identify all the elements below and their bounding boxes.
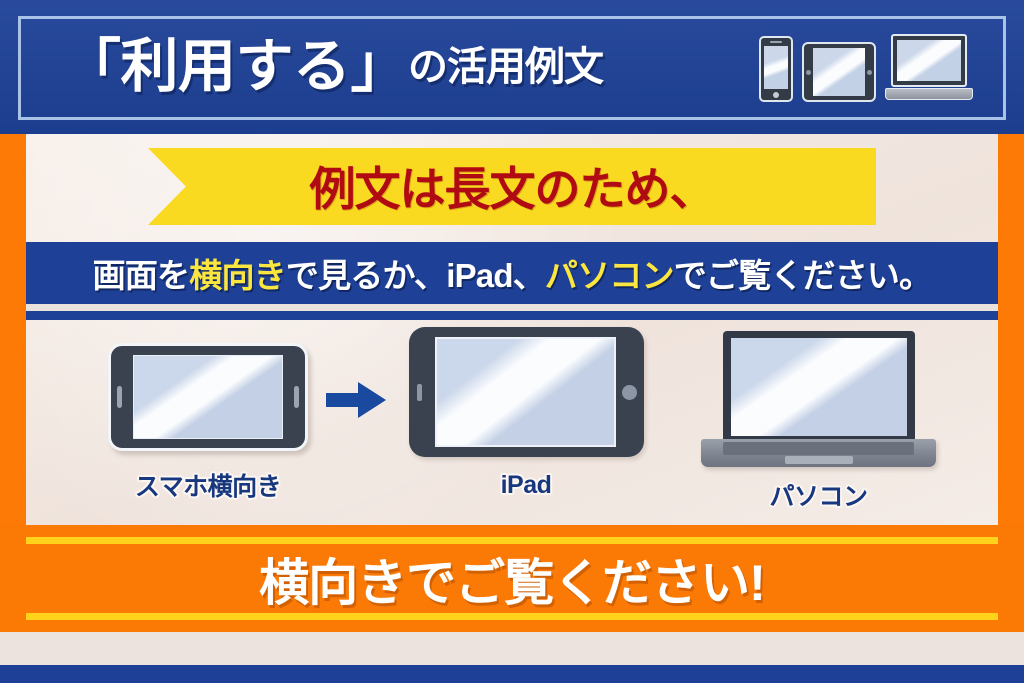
right-orange-rail [998, 134, 1024, 525]
laptop-illustration [701, 331, 936, 467]
yellow-ribbon-banner: 例文は長文のため、 [148, 148, 876, 225]
ribbon-text: 例文は長文のため、 [310, 153, 715, 219]
footer-cream-band [0, 632, 1024, 665]
ipad-illustration [409, 327, 644, 457]
page-title: 「利用する」の活用例文 [63, 38, 603, 96]
laptop-keyboard [723, 442, 914, 455]
cta-text: 横向きでご覧ください! [259, 543, 765, 615]
page-title-quoted: 「利用する」 [63, 34, 408, 99]
smartphone-label: スマホ横向き [98, 467, 318, 503]
tablet-camera-icon [806, 70, 811, 75]
phone-side-button-right-icon [294, 386, 299, 408]
smartphone-portrait-icon [759, 36, 793, 102]
cta-banner: 横向きでご覧ください! [0, 525, 1024, 632]
page-title-rest: の活用例文 [408, 45, 603, 89]
screen-glare [133, 355, 283, 439]
instruction-bar: 画面を横向きで見るか、iPad、パソコンでご覧ください。 [26, 242, 998, 304]
tablet-label: iPad [396, 471, 656, 500]
left-orange-rail [0, 134, 26, 525]
tablet-landscape-icon [802, 42, 876, 102]
laptop-label: パソコン [686, 477, 951, 513]
showcase-item-smartphone: スマホ横向き [98, 343, 318, 503]
laptop-base [885, 88, 973, 100]
screen-glare [435, 337, 616, 447]
showcase-item-tablet: iPad [396, 327, 656, 500]
screen-glare [731, 338, 907, 436]
instruction-part-2: で見るか、iPad、 [286, 257, 545, 294]
instruction-part-1: 画面を [93, 257, 190, 294]
cta-stripe-bottom [26, 613, 998, 620]
poster-canvas: 「利用する」の活用例文 [0, 0, 1024, 683]
laptop-base [701, 439, 936, 467]
laptop-lid [723, 331, 915, 443]
laptop-trackpad [785, 456, 853, 464]
tablet-home-button-icon [867, 70, 872, 75]
screen-glare [813, 48, 865, 96]
home-button-icon [773, 92, 779, 98]
laptop-lid [891, 34, 967, 87]
footer-blue-band [0, 665, 1024, 683]
tablet-home-button-icon [622, 385, 637, 400]
screen-glare [897, 40, 961, 81]
instruction-bar-gap [26, 304, 998, 311]
instruction-highlight-1: 横向き [189, 257, 286, 294]
instruction-bar-underline [26, 311, 998, 320]
showcase-item-laptop: パソコン [686, 331, 951, 513]
header-band: 「利用する」の活用例文 [0, 0, 1024, 134]
screen-glare [764, 46, 788, 89]
instruction-highlight-2: パソコン [545, 257, 674, 294]
arrow-right-icon [326, 380, 386, 420]
header-device-icons [759, 34, 973, 102]
phone-side-button-left-icon [117, 386, 122, 408]
speaker-slot-icon [770, 41, 782, 43]
smartphone-landscape-illustration [108, 343, 308, 451]
device-showcase: スマホ横向き iPad [26, 325, 998, 523]
tablet-volume-button-icon [417, 384, 422, 401]
header-inner-frame: 「利用する」の活用例文 [18, 16, 1006, 120]
instruction-part-3: でご覧ください。 [674, 257, 932, 294]
laptop-icon [885, 34, 973, 102]
instruction-text: 画面を横向きで見るか、iPad、パソコンでご覧ください。 [93, 249, 932, 297]
